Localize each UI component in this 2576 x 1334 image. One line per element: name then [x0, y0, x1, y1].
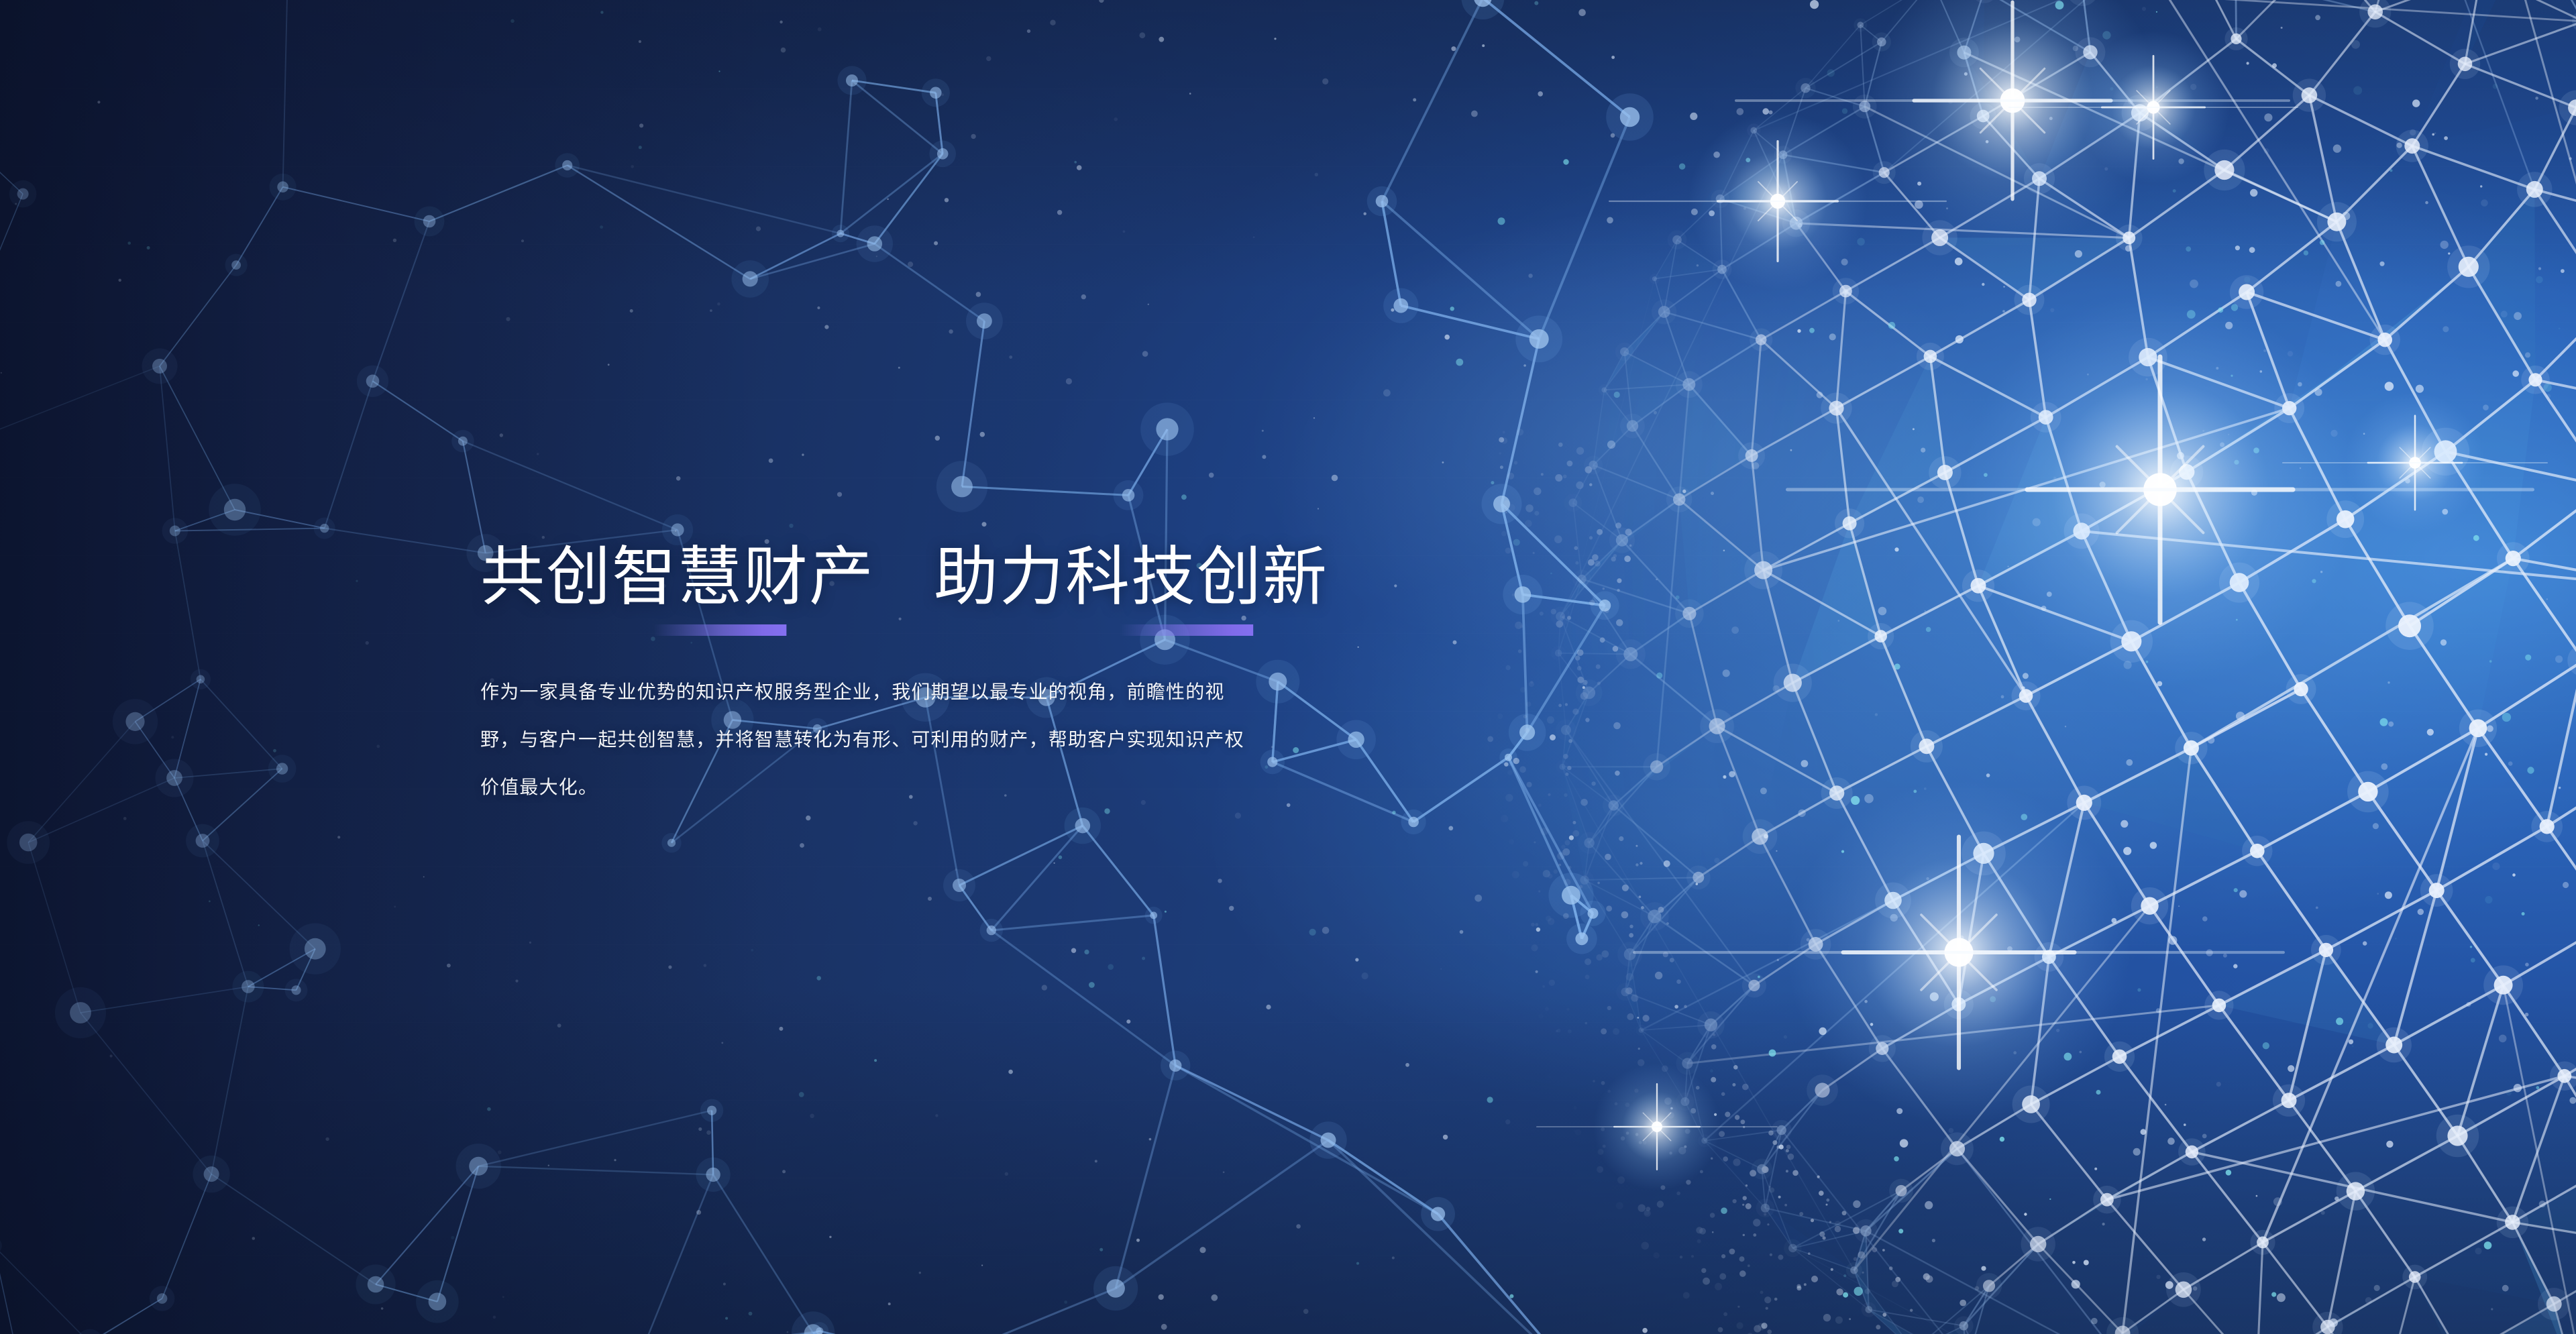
headline-phrase-2: 助力科技创新	[934, 545, 1328, 641]
headline-phrase-2-text: 助力科技创新	[934, 545, 1328, 610]
accent-underline-bar-1	[653, 624, 786, 636]
hero-headline: 共创智慧财产 助力科技创新	[480, 545, 1487, 641]
hero-banner: 共创智慧财产 助力科技创新 作为一家具备专业优势的知识产权服务型企业，我们期望以…	[0, 0, 2576, 1334]
hero-copy-block: 共创智慧财产 助力科技创新 作为一家具备专业优势的知识产权服务型企业，我们期望以…	[480, 545, 1487, 830]
headline-phrase-1: 共创智慧财产	[480, 545, 875, 641]
accent-underline-bar-2	[1120, 624, 1253, 636]
headline-phrase-1-text: 共创智慧财产	[480, 545, 875, 610]
hero-subcopy: 作为一家具备专业优势的知识产权服务型企业，我们期望以最专业的视角，前瞻性的视野，…	[480, 668, 1248, 811]
